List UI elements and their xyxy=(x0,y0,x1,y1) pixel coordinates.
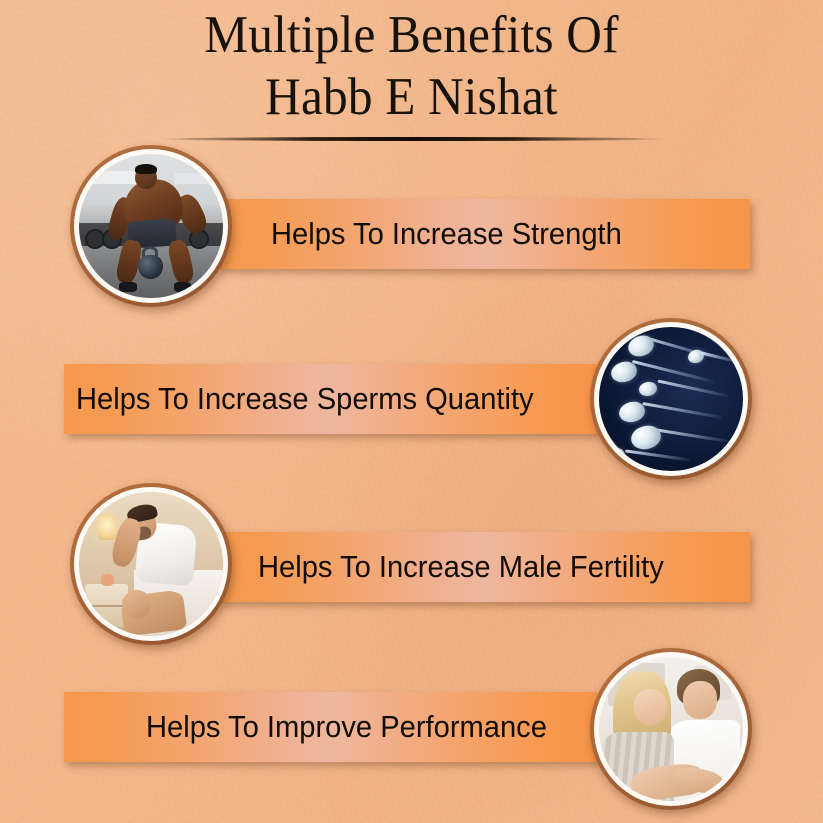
photo-ring-1 xyxy=(74,149,228,303)
infographic-canvas: Multiple Benefits Of Habb E Nishat xyxy=(0,0,823,823)
benefit-label-4: Helps To Improve Performance xyxy=(146,712,547,743)
benefit-bar-2: Helps To Increase Sperms Quantity xyxy=(64,364,597,434)
title-divider xyxy=(159,137,665,141)
benefit-label-2: Helps To Increase Sperms Quantity xyxy=(76,384,534,415)
photo-ring-2 xyxy=(594,322,748,476)
benefit-label-1: Helps To Increase Strength xyxy=(271,219,622,250)
benefit-image-2 xyxy=(590,318,752,480)
benefit-image-3 xyxy=(70,483,232,645)
photo-ring-3 xyxy=(74,487,228,641)
benefit-label-3: Helps To Increase Male Fertility xyxy=(258,552,664,583)
benefit-bar-1: Helps To Increase Strength xyxy=(218,199,750,269)
worried-man-sitting-on-bed-photo xyxy=(79,492,223,636)
couple-embracing-photo xyxy=(599,657,743,801)
benefit-row-3: Helps To Increase Male Fertility xyxy=(0,478,823,648)
benefit-bar-4: Helps To Improve Performance xyxy=(64,692,597,762)
muscular-man-kettlebell-gym-photo xyxy=(79,154,223,298)
page-title-line-1: Multiple Benefits Of xyxy=(29,4,794,66)
photo-ring-4 xyxy=(594,652,748,806)
benefit-row-2: Helps To Increase Sperms Quantity xyxy=(0,310,823,480)
page-title: Multiple Benefits Of Habb E Nishat xyxy=(0,4,823,141)
benefit-image-4 xyxy=(590,648,752,810)
benefit-bar-3: Helps To Increase Male Fertility xyxy=(218,532,750,602)
benefit-row-4: Helps To Improve Performance xyxy=(0,640,823,810)
sperm-cells-microscope-photo xyxy=(599,327,743,471)
benefit-image-1 xyxy=(70,145,232,307)
benefit-row-1: Helps To Increase Strength xyxy=(0,145,823,315)
page-title-line-2: Habb E Nishat xyxy=(29,66,794,128)
